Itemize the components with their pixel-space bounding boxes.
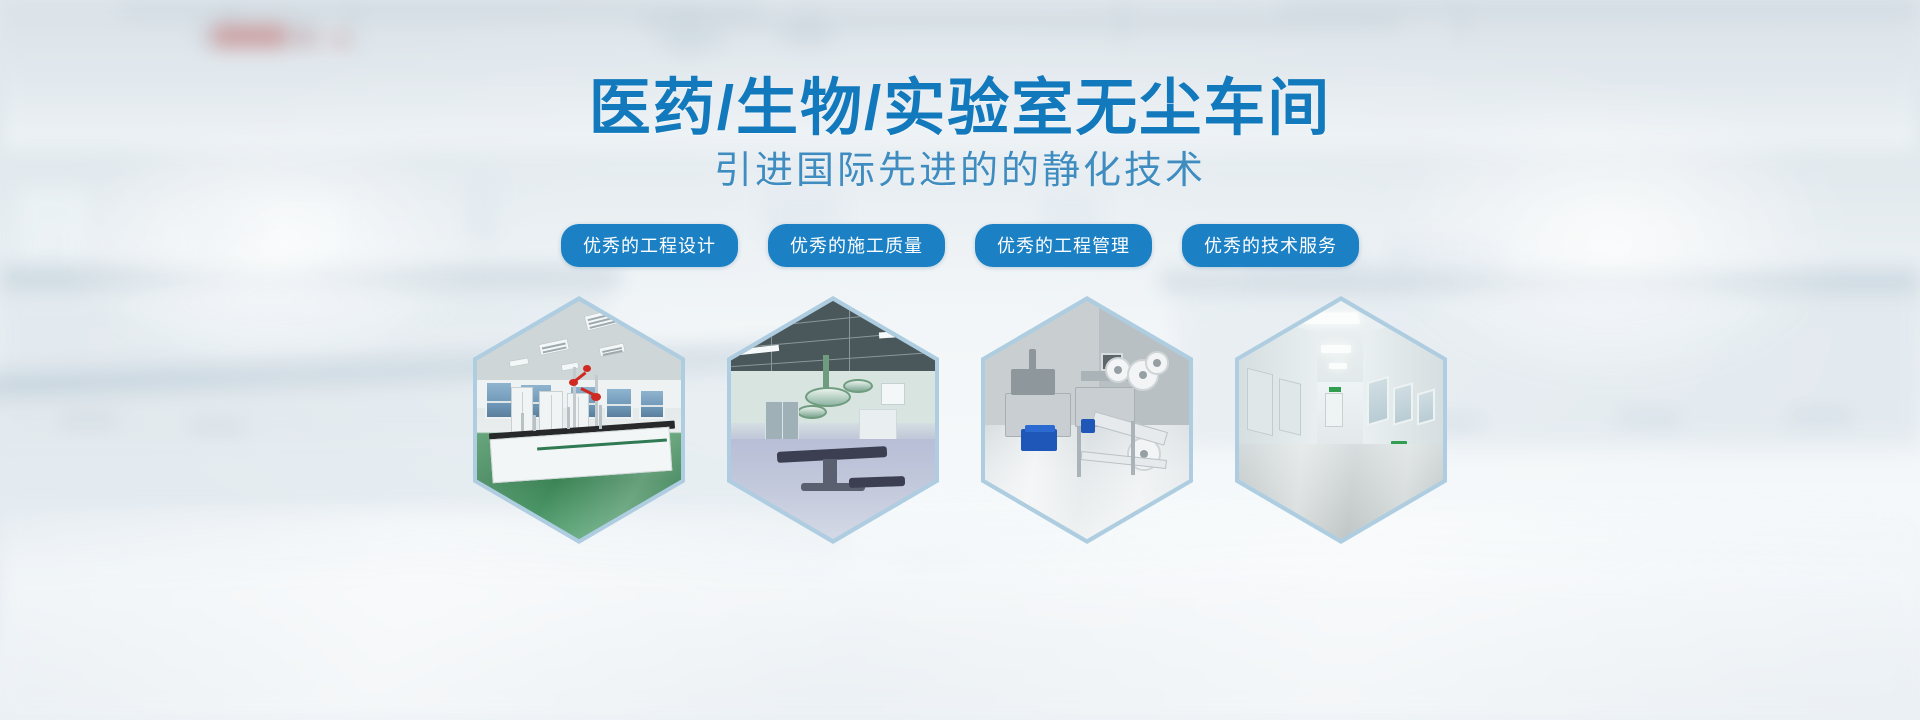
tag-pill-project-management[interactable]: 优秀的工程管理	[975, 224, 1152, 267]
tag-list: 优秀的工程设计 优秀的施工质量 优秀的工程管理 优秀的技术服务	[0, 224, 1920, 267]
hex-image-clip	[731, 301, 935, 539]
scene-laboratory	[477, 301, 681, 539]
tag-pill-construction-quality[interactable]: 优秀的施工质量	[768, 224, 945, 267]
tag-pill-technical-service[interactable]: 优秀的技术服务	[1182, 224, 1359, 267]
scene-operating-room	[731, 301, 935, 539]
hex-image-clip	[477, 301, 681, 539]
banner-content: 医药/生物/实验室无尘车间 引进国际先进的的静化技术 优秀的工程设计 优秀的施工…	[0, 0, 1920, 720]
page-subtitle: 引进国际先进的的静化技术	[0, 152, 1920, 190]
hero-banner: 医药/生物/实验室无尘车间 引进国际先进的的静化技术 优秀的工程设计 优秀的施工…	[0, 0, 1920, 720]
hex-tile-operating-room[interactable]	[727, 296, 939, 544]
hex-gallery	[0, 296, 1920, 544]
hex-tile-packaging-line[interactable]	[981, 296, 1193, 544]
page-title: 医药/生物/实验室无尘车间	[0, 78, 1920, 140]
hex-tile-lab[interactable]	[473, 296, 685, 544]
hex-image-clip	[1239, 301, 1443, 539]
scene-corridor	[1239, 301, 1443, 539]
hex-image-clip	[985, 301, 1189, 539]
hex-tile-corridor[interactable]	[1235, 296, 1447, 544]
scene-packaging-line	[985, 301, 1189, 539]
tag-pill-engineering-design[interactable]: 优秀的工程设计	[561, 224, 738, 267]
